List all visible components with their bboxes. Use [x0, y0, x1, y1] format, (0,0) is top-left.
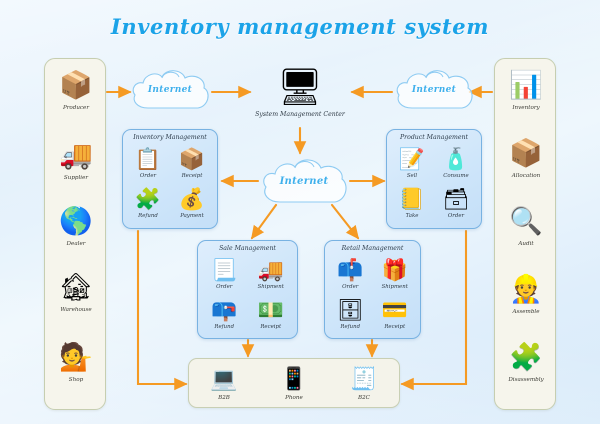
cloud-shape-icon	[128, 66, 212, 114]
side-item-assemble[interactable]: 👷 Assemble	[495, 269, 557, 316]
module-cell-order[interactable]: 📃 Order	[201, 256, 248, 296]
order-tag-icon: 📃	[201, 256, 248, 284]
side-item-allocation[interactable]: 📦 Allocation	[495, 133, 557, 180]
sale-management-module[interactable]: Sale Management 📃 Order 🚚 Shipment 📪 Ref…	[197, 240, 298, 339]
side-item-label: Inventory	[495, 105, 557, 112]
retail-management-module[interactable]: Retail Management 📫 Order 🎁 Shipment 🗄 R…	[324, 240, 421, 339]
module-cell-order[interactable]: 📫 Order	[328, 256, 373, 296]
module-cell-receipt[interactable]: 💵 Receipt	[248, 296, 295, 336]
magnifier-globe-icon: 🔍	[495, 201, 557, 243]
module-cell-refund[interactable]: 🗄 Refund	[328, 296, 373, 336]
module-cell-label: Receipt	[373, 324, 418, 330]
module-cell-label: Order	[126, 173, 170, 179]
module-title: Product Management	[387, 134, 481, 141]
module-cell-label: Take	[390, 213, 434, 219]
module-cell-label: Receipt	[170, 173, 214, 179]
module-cell-refund[interactable]: 🧩 Refund	[126, 185, 170, 225]
bar-pie-chart-icon: 📊	[495, 65, 557, 107]
colored-blocks-icon: 🧩	[126, 185, 170, 213]
side-item-label: Shop	[45, 377, 107, 384]
module-cell-label: Order	[434, 213, 478, 219]
cardboard-box-icon: 📦	[45, 65, 107, 107]
module-cell-label: Consume	[434, 173, 478, 179]
globe-dealer-icon: 🌎	[45, 201, 107, 243]
module-cell-payment[interactable]: 💰 Payment	[170, 185, 214, 225]
signed-document-icon: 📝	[390, 145, 434, 173]
cash-receipt-icon: 💵	[248, 296, 295, 324]
module-cell-order[interactable]: 📋 Order	[126, 145, 170, 185]
side-item-label: Assemble	[495, 309, 557, 316]
side-item-label: Dealer	[45, 241, 107, 248]
module-cell-label: Receipt	[248, 324, 295, 330]
sale-gift-box-icon: 🎁	[373, 256, 418, 284]
side-item-label: Audit	[495, 241, 557, 248]
side-item-shop[interactable]: 💁 Shop	[45, 337, 107, 384]
module-cell-label: Sell	[390, 173, 434, 179]
module-cell-label: Refund	[126, 213, 170, 219]
system-management-center-label: System Management Center	[252, 111, 348, 118]
shipment-truck-icon: 🚚	[248, 256, 295, 284]
module-cell-label: Refund	[328, 324, 373, 330]
module-cell-label: Shipment	[373, 284, 418, 290]
module-cell-receipt[interactable]: 📦 Receipt	[170, 145, 214, 185]
package-box-icon: 📦	[495, 133, 557, 175]
mailbox-refund-icon: 📪	[201, 296, 248, 324]
wooden-crate-icon: 🗄	[328, 296, 373, 324]
side-item-disassembly[interactable]: 🧩 Disassembly	[495, 337, 557, 384]
module-cell-take[interactable]: 📒 Take	[390, 185, 434, 225]
desktop-computer-icon: 🖥	[252, 62, 348, 114]
shop-counter-icon: 💁	[45, 337, 107, 379]
channel-item-label: B2B	[210, 395, 237, 401]
side-item-inventory[interactable]: 📊 Inventory	[495, 65, 557, 112]
cloud-shape-icon	[258, 155, 350, 208]
warehouse-icon: 🏚	[45, 267, 107, 309]
side-item-audit[interactable]: 🔍 Audit	[495, 201, 557, 248]
mailbox-icon: 📫	[328, 256, 373, 284]
credit-card-icon: 💳	[373, 296, 418, 324]
module-cell-label: Order	[201, 284, 248, 290]
stacked-boxes-icon: 📦	[170, 145, 214, 173]
supply-chain-panel: 📦 Producer 🚚 Supplier 🌎 Dealer 🏚 Warehou…	[44, 58, 106, 410]
open-book-icon: 📒	[390, 185, 434, 213]
cash-folder-icon: 💰	[170, 185, 214, 213]
internet-cloud-right[interactable]: Internet	[392, 66, 476, 114]
side-item-warehouse[interactable]: 🏚 Warehouse	[45, 267, 107, 314]
module-cell-shipment[interactable]: 🎁 Shipment	[373, 256, 418, 296]
module-title: Inventory Management	[123, 134, 217, 141]
inventory-management-module[interactable]: Inventory Management 📋 Order 📦 Receipt 🧩…	[122, 129, 218, 229]
side-item-label: Supplier	[45, 175, 107, 182]
module-cell-receipt[interactable]: 💳 Receipt	[373, 296, 418, 336]
worker-wrench-icon: 👷	[495, 269, 557, 311]
colored-blocks-icon: 🧩	[495, 337, 557, 379]
delivery-truck-icon: 🚚	[45, 135, 107, 177]
side-item-supplier[interactable]: 🚚 Supplier	[45, 135, 107, 182]
module-cell-label: Payment	[170, 213, 214, 219]
module-title: Sale Management	[198, 245, 297, 252]
module-title: Retail Management	[325, 245, 420, 252]
sales-channels-panel: 💻 B2B 📱 Phone 🧾 B2C	[188, 358, 400, 408]
channel-item-b2b[interactable]: 💻 B2B	[210, 365, 237, 401]
side-item-label: Allocation	[495, 173, 557, 180]
side-item-producer[interactable]: 📦 Producer	[45, 65, 107, 112]
product-crate-icon: 🧴	[434, 145, 478, 173]
system-management-center-node[interactable]: 🖥 System Management Center	[252, 62, 348, 118]
channel-item-b2c[interactable]: 🧾 B2C	[350, 365, 377, 401]
side-item-label: Disassembly	[495, 377, 557, 384]
module-cell-sell[interactable]: 📝 Sell	[390, 145, 434, 185]
channel-item-phone[interactable]: 📱 Phone	[280, 365, 307, 401]
module-cell-label: Refund	[201, 324, 248, 330]
side-item-label: Warehouse	[45, 307, 107, 314]
module-cell-label: Shipment	[248, 284, 295, 290]
clipboard-order-icon: 📋	[126, 145, 170, 173]
internet-cloud-left[interactable]: Internet	[128, 66, 212, 114]
cash-register-icon: 🧾	[350, 365, 377, 395]
module-cell-consume[interactable]: 🧴 Consume	[434, 145, 478, 185]
cloud-shape-icon	[392, 66, 476, 114]
channel-item-label: Phone	[280, 395, 307, 401]
side-item-dealer[interactable]: 🌎 Dealer	[45, 201, 107, 248]
module-cell-shipment[interactable]: 🚚 Shipment	[248, 256, 295, 296]
side-item-label: Producer	[45, 105, 107, 112]
module-cell-label: Order	[328, 284, 373, 290]
module-cell-refund[interactable]: 📪 Refund	[201, 296, 248, 336]
channel-item-label: B2C	[350, 395, 377, 401]
module-cell-order[interactable]: 🗃 Order	[434, 185, 478, 225]
mobile-phone-icon: 📱	[280, 365, 307, 395]
file-drawer-icon: 🗃	[434, 185, 478, 213]
diagram-canvas: Inventory management system	[0, 0, 600, 424]
desktop-terminal-icon: 💻	[210, 365, 237, 395]
operations-panel: 📊 Inventory 📦 Allocation 🔍 Audit 👷 Assem…	[494, 58, 556, 410]
internet-cloud-center[interactable]: Internet	[258, 155, 350, 208]
product-management-module[interactable]: Product Management 📝 Sell 🧴 Consume 📒 Ta…	[386, 129, 482, 229]
